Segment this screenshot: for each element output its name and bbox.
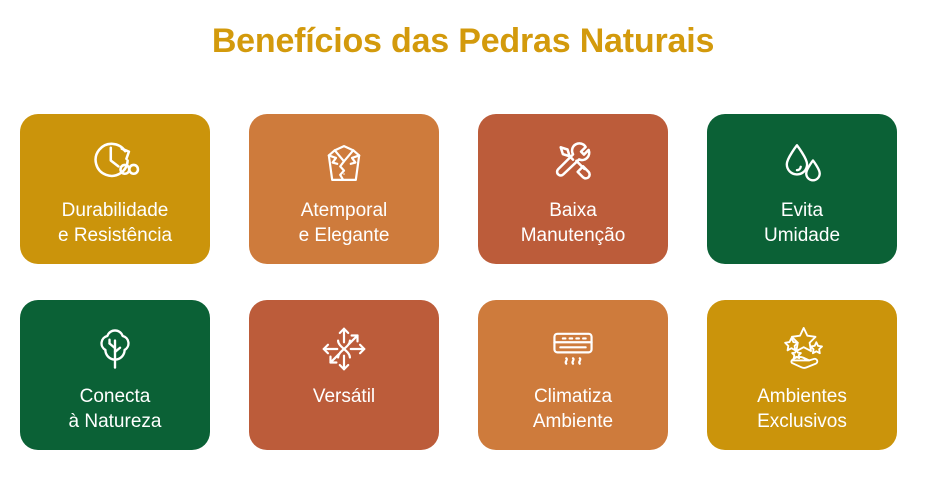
four-way-arrows-icon <box>317 322 371 376</box>
benefit-card-label: Versátil <box>249 384 439 409</box>
water-droplets-icon <box>775 136 829 190</box>
benefit-card-label: Atemporal e Elegante <box>249 198 439 249</box>
tuxedo-suit-icon <box>317 136 371 190</box>
air-conditioner-icon <box>546 322 600 376</box>
benefit-card-label: Ambientes Exclusivos <box>707 384 897 435</box>
benefit-card-atemporal[interactable]: Atemporal e Elegante <box>249 114 439 264</box>
benefit-card-label: Baixa Manutenção <box>478 198 668 249</box>
benefit-card-label: Conecta à Natureza <box>20 384 210 435</box>
benefit-card-durabilidade[interactable]: Durabilidade e Resistência <box>20 114 210 264</box>
benefit-card-versatil[interactable]: Versátil <box>249 300 439 450</box>
benefit-card-label: Durabilidade e Resistência <box>20 198 210 249</box>
benefit-card-label: Evita Umidade <box>707 198 897 249</box>
clock-infinity-icon <box>88 136 142 190</box>
page-title: Benefícios das Pedras Naturais <box>0 22 926 61</box>
benefit-card-ambientes-exclusivos[interactable]: Ambientes Exclusivos <box>707 300 897 450</box>
benefit-card-climatiza-ambiente[interactable]: Climatiza Ambiente <box>478 300 668 450</box>
wrench-screwdriver-icon <box>546 136 600 190</box>
hand-stars-icon <box>775 322 829 376</box>
benefits-grid: Durabilidade e Resistência Atemporal e E… <box>20 114 897 450</box>
benefit-card-evita-umidade[interactable]: Evita Umidade <box>707 114 897 264</box>
infographic-page: Benefícios das Pedras Naturais Durabilid… <box>0 0 926 485</box>
tree-icon <box>88 322 142 376</box>
benefit-card-conecta-natureza[interactable]: Conecta à Natureza <box>20 300 210 450</box>
benefit-card-label: Climatiza Ambiente <box>478 384 668 435</box>
benefit-card-baixa-manutencao[interactable]: Baixa Manutenção <box>478 114 668 264</box>
